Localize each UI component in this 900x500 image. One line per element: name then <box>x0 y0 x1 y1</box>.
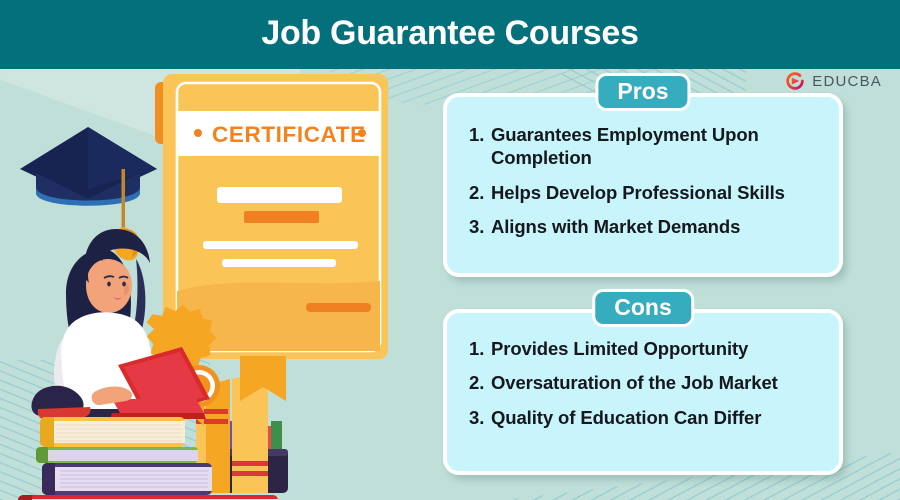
list-item-text: Oversaturation of the Job Market <box>491 371 823 394</box>
educba-logo[interactable]: EDUCBA <box>784 70 882 92</box>
list-item-number: 1. <box>469 337 491 360</box>
pros-badge: Pros <box>595 73 690 111</box>
educba-e-circle-icon <box>784 70 806 92</box>
infographic-canvas: Job Guarantee Courses EDUCBA <box>0 0 900 500</box>
pros-panel: Pros 1. Guarantees Employment Upon Compl… <box>443 93 843 277</box>
illustration-student-certificate: CERTIFICATE <box>0 69 420 500</box>
list-item: 3. Quality of Education Can Differ <box>469 406 823 429</box>
cons-panel: Cons 1. Provides Limited Opportunity 2. … <box>443 309 843 475</box>
list-item-number: 2. <box>469 181 491 204</box>
list-item-number: 2. <box>469 371 491 394</box>
page-title: Job Guarantee Courses <box>261 16 638 53</box>
cons-badge: Cons <box>592 289 694 327</box>
list-item: 3. Aligns with Market Demands <box>469 215 823 238</box>
list-item-text: Aligns with Market Demands <box>491 215 823 238</box>
page-header: Job Guarantee Courses <box>0 0 900 69</box>
educba-logo-text: EDUCBA <box>812 73 882 90</box>
list-item-text: Quality of Education Can Differ <box>491 406 823 429</box>
list-item: 2. Oversaturation of the Job Market <box>469 371 823 394</box>
list-item-text: Helps Develop Professional Skills <box>491 181 823 204</box>
list-item-text: Guarantees Employment Upon Completion <box>491 123 823 170</box>
pros-list: 1. Guarantees Employment Upon Completion… <box>447 97 839 248</box>
list-item-text: Provides Limited Opportunity <box>491 337 823 360</box>
list-item-number: 3. <box>469 406 491 429</box>
list-item: 1. Provides Limited Opportunity <box>469 337 823 360</box>
list-item: 2. Helps Develop Professional Skills <box>469 181 823 204</box>
cons-list: 1. Provides Limited Opportunity 2. Overs… <box>447 313 839 439</box>
certificate-title-text: CERTIFICATE <box>212 122 366 147</box>
list-item: 1. Guarantees Employment Upon Completion <box>469 123 823 170</box>
list-item-number: 3. <box>469 215 491 238</box>
list-item-number: 1. <box>469 123 491 146</box>
